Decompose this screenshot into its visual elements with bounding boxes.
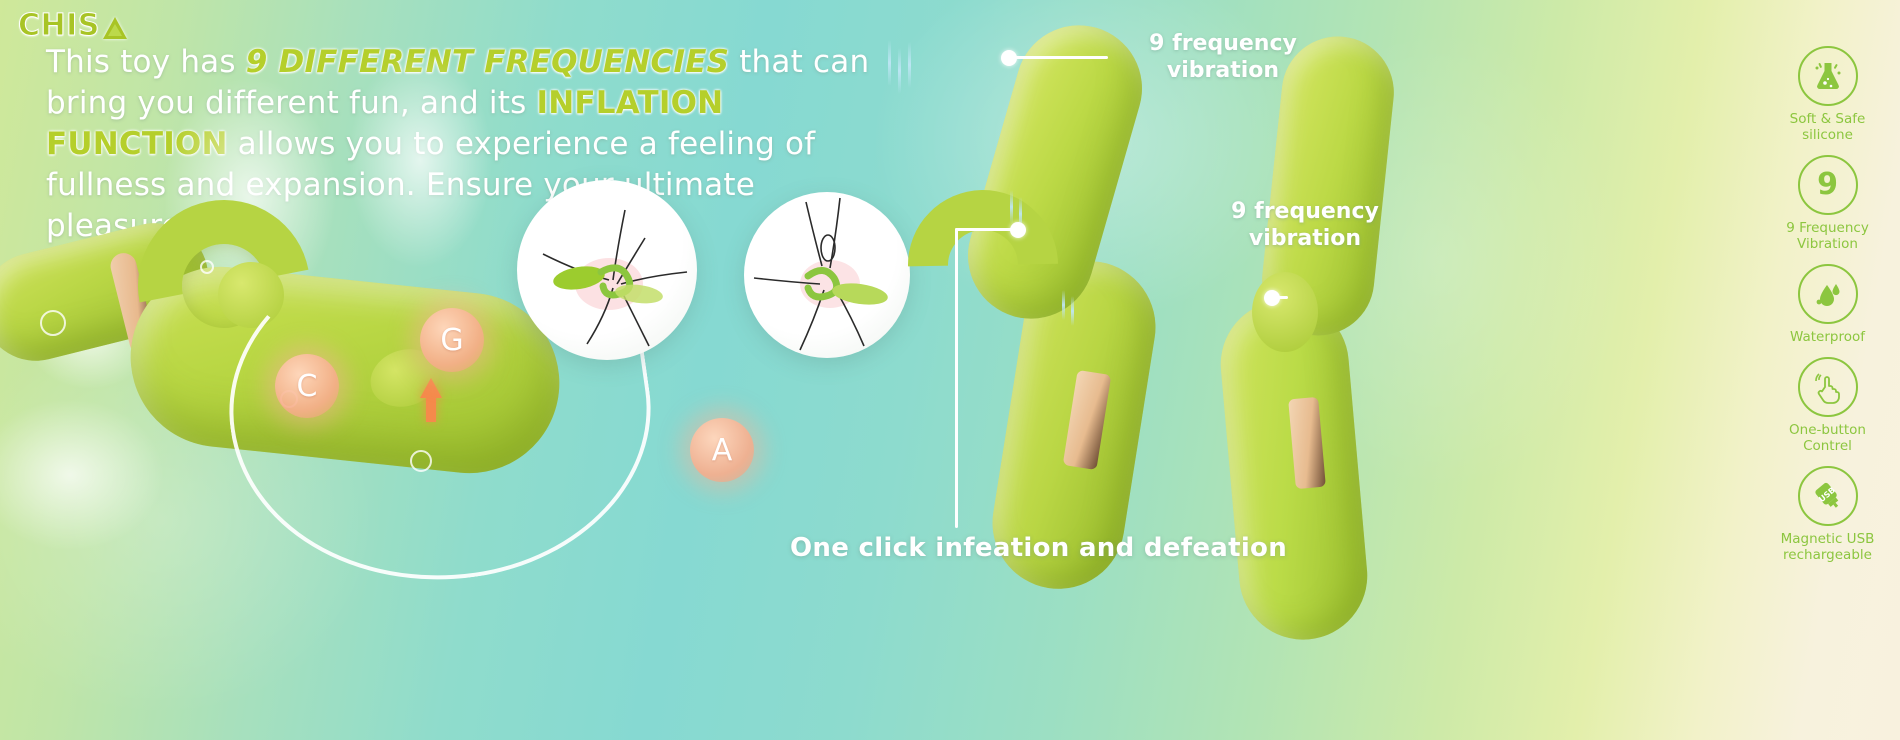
inflation-arrow-icon [420,378,442,398]
brand-logo: CHIS [18,8,127,43]
feature-waterproof-label: Waterproof [1763,329,1893,345]
usage-diagram-1-art [517,180,697,360]
droplet-icon [1798,264,1858,324]
usb-plug-icon: USB [1798,466,1858,526]
product-2-nub [1252,272,1318,352]
feature-sidebar: Soft & Safe silicone 9 9 Frequency Vibra… [1755,0,1900,740]
feature-one-button-control-label: One-button Contrel [1763,422,1893,454]
brand-logo-text: CHIS [18,8,100,43]
callout-bottom-line-horizontal [955,228,1015,231]
product-banner: CHIS This toy has 9 DIFFERENT FREQUENCIE… [0,0,1900,740]
nine-icon: 9 [1798,155,1858,215]
marker-a: A [690,418,754,482]
right-product-illustration [900,0,1520,740]
callout-top-line [1015,56,1108,59]
feature-magnetic-usb: USB Magnetic USB rechargeable [1763,466,1893,563]
marker-c-label: C [297,369,318,404]
marker-a-label: A [712,433,733,468]
usage-diagram-2-art [744,192,910,358]
callout-middle-line [1278,296,1288,299]
callout-bottom-line-vertical [955,228,958,528]
feature-soft-safe-silicone-label: Soft & Safe silicone [1763,111,1893,143]
nine-icon-value: 9 [1817,170,1838,200]
bubble [40,310,66,336]
flask-icon [1798,46,1858,106]
feature-waterproof: Waterproof [1763,264,1893,345]
feature-nine-frequency: 9 9 Frequency Vibration [1763,155,1893,252]
feature-soft-safe-silicone: Soft & Safe silicone [1763,46,1893,143]
logo-triangle-icon [103,17,127,39]
bubble [200,260,214,274]
usage-diagram-inset-1 [517,180,697,360]
bubble [410,450,432,472]
feature-one-button-control: One-button Contrel [1763,357,1893,454]
marker-g: G [420,308,484,372]
marker-c: C [275,354,339,418]
callout-middle-label: 9 frequency vibration [1190,198,1420,252]
feature-magnetic-usb-label: Magnetic USB rechargeable [1763,531,1893,563]
callout-top-label: 9 frequency vibration [1108,30,1338,84]
callout-bottom-label: One click infeation and defeation [790,533,1287,563]
usage-diagram-inset-2 [744,192,910,358]
feature-nine-frequency-label: 9 Frequency Vibration [1763,220,1893,252]
tap-hand-icon [1798,357,1858,417]
marker-g-label: G [440,323,463,358]
